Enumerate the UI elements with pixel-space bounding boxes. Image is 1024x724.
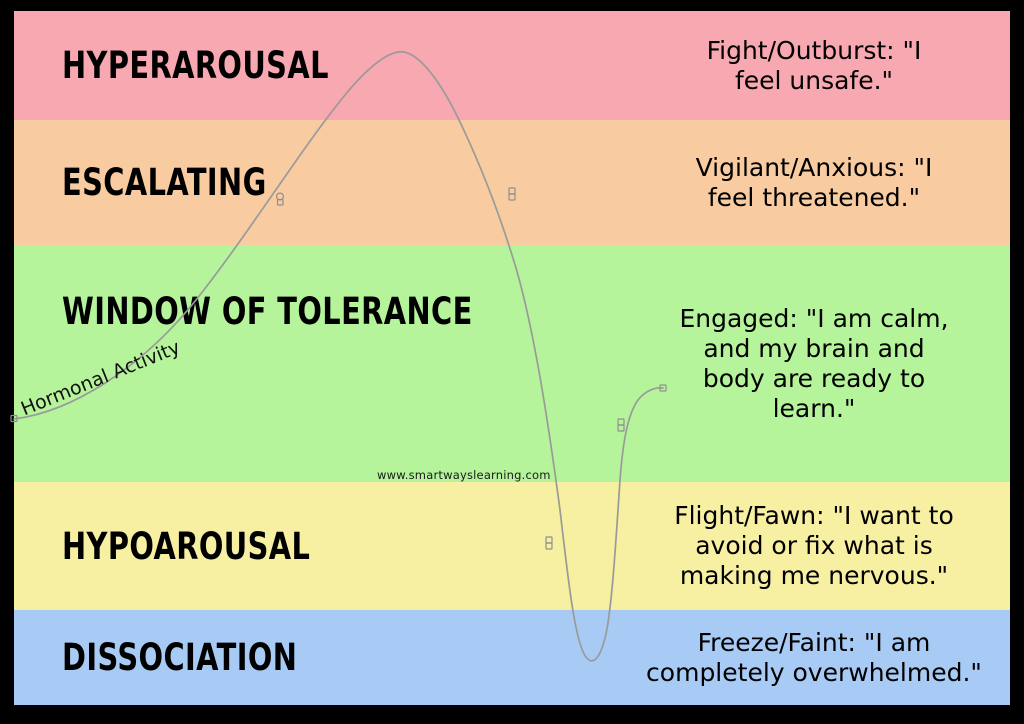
band-description-dissociation: Freeze/Faint: "I am completely overwhelm… xyxy=(626,628,1002,688)
band-title-escalating: ESCALATING xyxy=(62,164,267,201)
band-description-hypoarousal: Flight/Fawn: "I want to avoid or fix wha… xyxy=(638,501,990,591)
band-hyperarousal: HYPERAROUSAL Fight/Outburst: "I feel uns… xyxy=(14,11,1010,120)
band-title-hypoarousal: HYPOAROUSAL xyxy=(62,528,310,565)
band-description-escalating: Vigilant/Anxious: "I feel threatened." xyxy=(638,153,990,213)
band-title-dissociation: DISSOCIATION xyxy=(62,639,297,676)
website-watermark: www.smartwayslearning.com xyxy=(377,468,551,482)
poster-canvas: HYPERAROUSAL Fight/Outburst: "I feel uns… xyxy=(0,0,1024,724)
band-description-window-of-tolerance: Engaged: "I am calm, and my brain and bo… xyxy=(638,304,990,424)
band-dissociation: DISSOCIATION Freeze/Faint: "I am complet… xyxy=(14,610,1010,705)
band-description-hyperarousal: Fight/Outburst: "I feel unsafe." xyxy=(638,36,990,96)
band-title-hyperarousal: HYPERAROUSAL xyxy=(62,47,329,84)
band-hypoarousal: HYPOAROUSAL Flight/Fawn: "I want to avoi… xyxy=(14,482,1010,610)
band-title-window-of-tolerance: WINDOW OF TOLERANCE xyxy=(62,293,473,330)
band-escalating: ESCALATING Vigilant/Anxious: "I feel thr… xyxy=(14,120,1010,245)
